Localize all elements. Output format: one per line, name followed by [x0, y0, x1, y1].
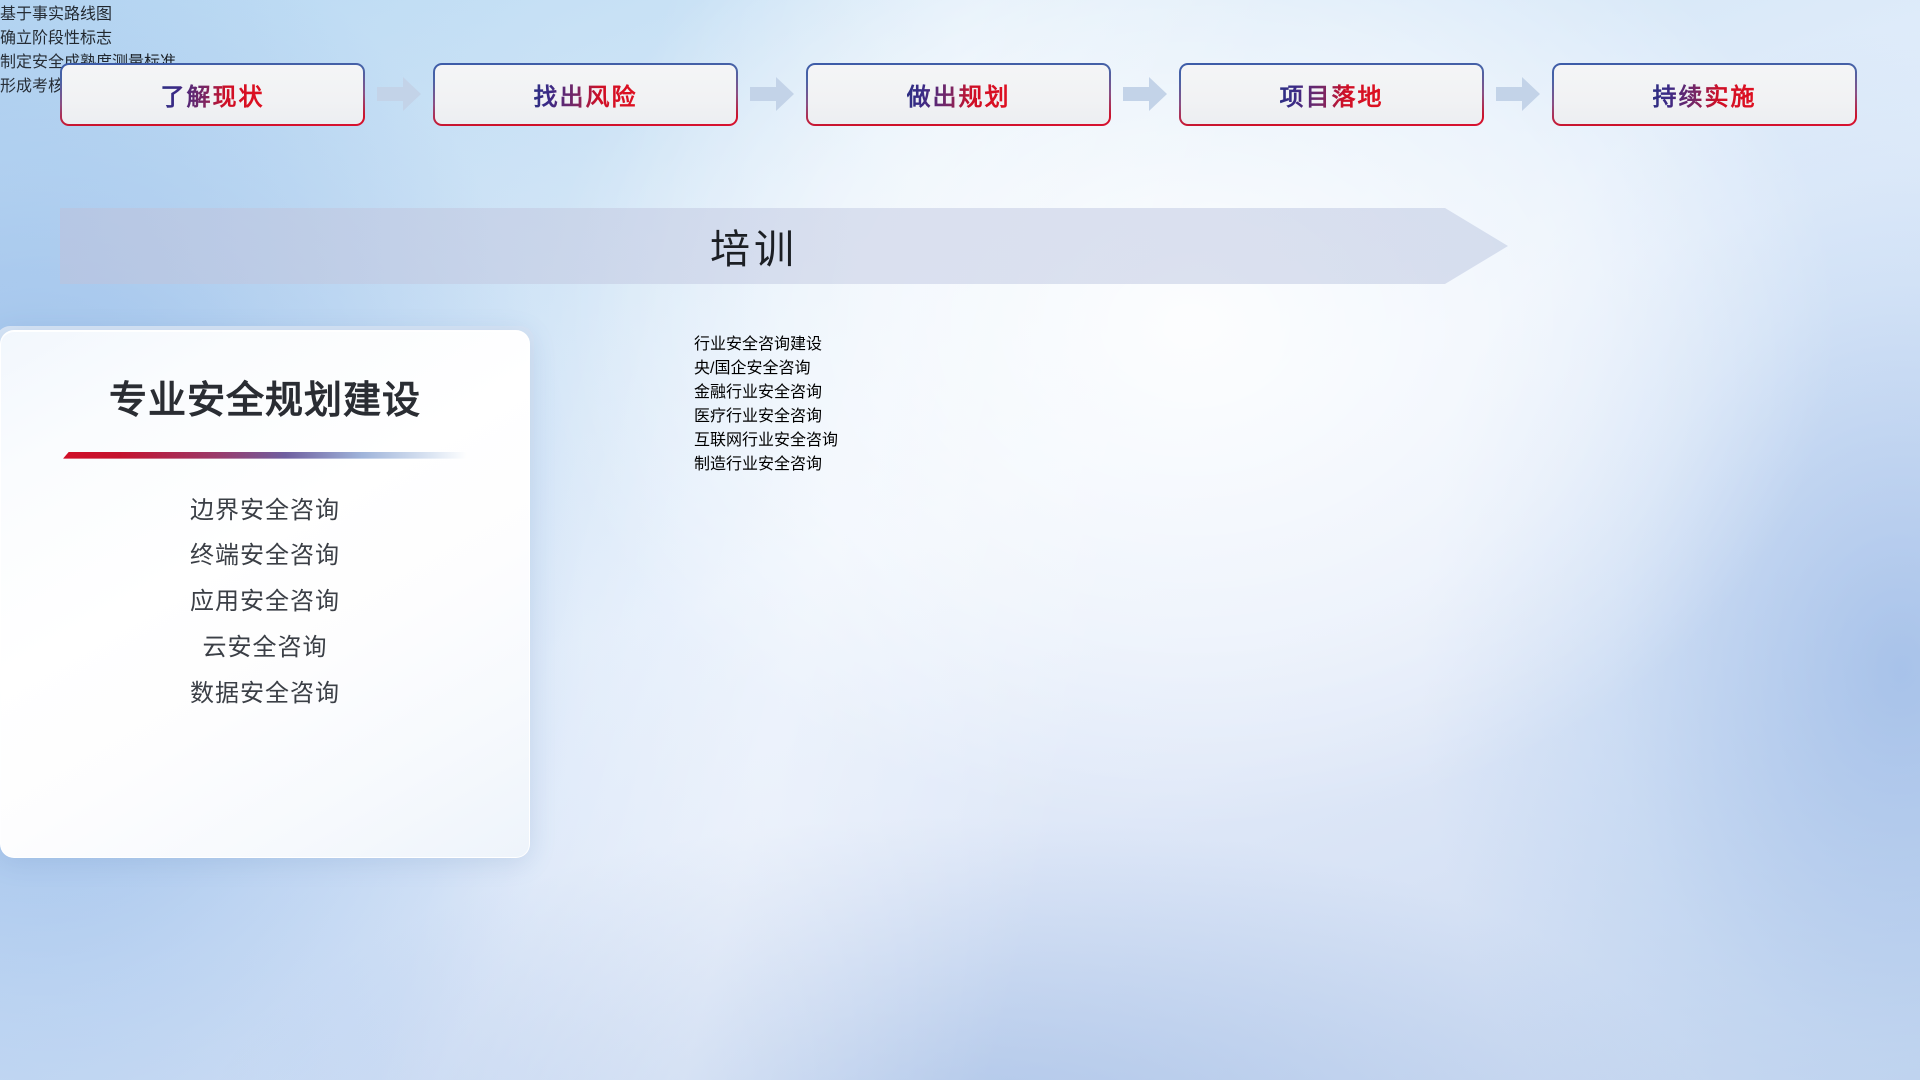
- process-step-pill[interactable]: 项目落地: [1179, 63, 1484, 126]
- process-step-1[interactable]: 找出风险: [433, 63, 738, 126]
- list-item: 数据安全咨询: [190, 680, 340, 709]
- list-item: 金融行业安全咨询: [694, 378, 1224, 402]
- caption-1: 确立阶段性标志: [0, 24, 1920, 48]
- process-step-pill-inner: 找出风险: [435, 65, 736, 124]
- process-step-pill-inner: 做出规划: [808, 65, 1109, 124]
- caption-0: 基于事实路线图: [0, 0, 1920, 24]
- card-title: 行业安全咨询建设: [694, 330, 1224, 354]
- process-step-label: 找出风险: [534, 77, 638, 112]
- list-item: 云安全咨询: [203, 634, 328, 663]
- list-item: 央/国企安全咨询: [694, 354, 1224, 378]
- process-step-pill-inner: 持续实施: [1554, 65, 1855, 124]
- list-item: 应用安全咨询: [190, 588, 340, 617]
- list-item: 终端安全咨询: [190, 542, 340, 571]
- process-step-label: 了解现状: [161, 77, 265, 112]
- process-step-label: 项目落地: [1280, 77, 1384, 112]
- card-item-list: 边界安全咨询 终端安全咨询 应用安全咨询 云安全咨询 数据安全咨询: [1, 497, 529, 709]
- process-step-pill[interactable]: 做出规划: [806, 63, 1111, 126]
- card-row: 信息安全 规划建设全景图 安全现状调研 差距分析 行业经验及最佳实践 制定安全体…: [0, 330, 1920, 890]
- card-2[interactable]: 专业安全规划建设 边界安全咨询 终端安全咨询 应用安全咨询 云安全咨询 数据安全…: [0, 330, 530, 858]
- process-step-row: 了解现状 找出风险 做出规划: [60, 62, 1860, 126]
- list-item: 医疗行业安全咨询: [694, 402, 1224, 426]
- process-step-label: 持续实施: [1653, 77, 1757, 112]
- arrow-right-icon: [1484, 63, 1552, 126]
- slide-canvas: 了解现状 找出风险 做出规划: [0, 0, 1920, 1080]
- process-step-pill[interactable]: 持续实施: [1552, 63, 1857, 126]
- card-slot-2: 专业安全规划建设 边界安全咨询 终端安全咨询 应用安全咨询 云安全咨询 数据安全…: [0, 330, 530, 858]
- process-step-0[interactable]: 了解现状: [60, 63, 365, 126]
- process-step-pill[interactable]: 找出风险: [433, 63, 738, 126]
- card-slot-1: 行业安全咨询建设 央/国企安全咨询 金融行业安全咨询 医疗行业安全咨询 互联网行…: [694, 330, 1224, 474]
- process-step-pill-inner: 了解现状: [62, 65, 363, 124]
- process-step-3[interactable]: 项目落地: [1179, 63, 1484, 126]
- process-step-2[interactable]: 做出规划: [806, 63, 1111, 126]
- card-divider: [63, 452, 467, 459]
- arrow-right-icon: [1111, 63, 1179, 126]
- list-item: 边界安全咨询: [190, 497, 340, 526]
- card-title: 专业安全规划建设: [109, 377, 421, 426]
- list-item: 互联网行业安全咨询: [694, 426, 1224, 450]
- process-step-pill[interactable]: 了解现状: [60, 63, 365, 126]
- banner-label: 培训: [60, 217, 1508, 275]
- process-step-pill-inner: 项目落地: [1181, 65, 1482, 124]
- card-1[interactable]: 行业安全咨询建设 央/国企安全咨询 金融行业安全咨询 医疗行业安全咨询 互联网行…: [694, 330, 1224, 474]
- process-step-label: 做出规划: [907, 77, 1011, 112]
- training-banner: 培训: [60, 208, 1508, 284]
- arrow-right-icon: [738, 63, 806, 126]
- process-step-4[interactable]: 持续实施: [1552, 63, 1857, 126]
- card-item-list: 央/国企安全咨询 金融行业安全咨询 医疗行业安全咨询 互联网行业安全咨询 制造行…: [694, 354, 1224, 474]
- list-item: 制造行业安全咨询: [694, 450, 1224, 474]
- arrow-right-icon: [365, 63, 433, 126]
